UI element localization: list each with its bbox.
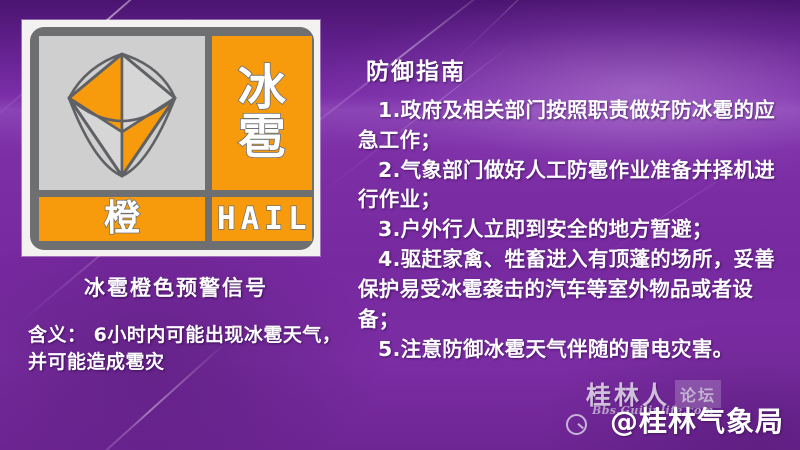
guidelines-list: 1.政府及相关部门按照职责做好防冰雹的应急工作； 2.气象部门做好人工防雹作业准… (358, 96, 794, 364)
meaning-text: 含义： 6小时内可能出现冰雹天气，并可能造成雹灾 (28, 322, 344, 376)
grade-char-orange: 橙 (104, 201, 140, 237)
grade-level-panel: 橙 (39, 197, 205, 241)
hail-warning-sign: 冰 雹 橙 HAIL (30, 27, 314, 250)
guideline-item: 2.气象部门做好人工防雹作业准备并择机进行作业； (358, 156, 794, 216)
hazard-char-bing: 冰 (238, 65, 286, 112)
slide-canvas: 冰 雹 橙 HAIL 冰雹橙色预警信号 含义： 6小时内可能出现冰雹天气，并可能… (0, 0, 800, 450)
guideline-item: 1.政府及相关部门按照职责做好防冰雹的应急工作； (358, 96, 794, 156)
sign-caption: 冰雹橙色预警信号 (0, 272, 352, 302)
hazard-char-bao: 雹 (238, 114, 286, 161)
guideline-item: 3.户外行人立即到安全的地方暂避； (358, 215, 794, 245)
guideline-item: 4.驱赶家禽、牲畜进入有顶蓬的场所，妥善保护易受冰雹袭击的汽车等室外物品或者设备… (358, 245, 794, 334)
qq-penguin-icon (566, 414, 587, 435)
english-label: HAIL (212, 201, 312, 237)
guidelines-title: 防御指南 (366, 52, 466, 86)
english-name-panel: HAIL (212, 197, 312, 241)
warning-sign-column: 冰 雹 橙 HAIL 冰雹橙色预警信号 含义： 6小时内可能出现冰雹天气，并可能… (0, 0, 352, 450)
hailstone-pictogram-cell (39, 36, 205, 190)
hazard-name-panel: 冰 雹 (212, 36, 312, 190)
guideline-item: 5.注意防御冰雹天气伴随的雷电灾害。 (358, 335, 794, 365)
account-handle-watermark: @桂林气象局 (610, 400, 784, 440)
guidelines-column: 防御指南 1.政府及相关部门按照职责做好防冰雹的应急工作； 2.气象部门做好人工… (352, 0, 800, 450)
hailstone-crystal-icon (39, 36, 205, 190)
